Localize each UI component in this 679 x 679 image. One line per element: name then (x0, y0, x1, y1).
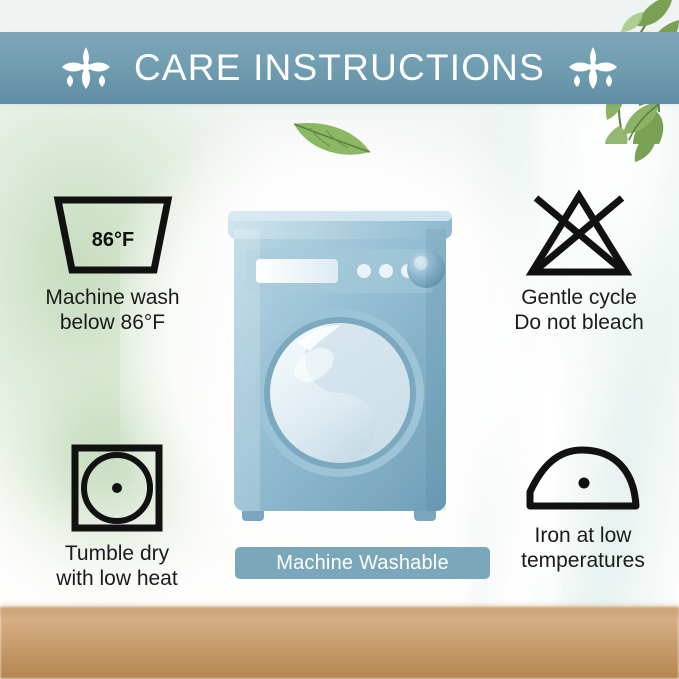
fleur-de-lis-icon (56, 43, 116, 93)
wooden-table-surface (0, 607, 679, 679)
tumble-dry-low-heat-icon (67, 440, 167, 536)
care-symbol-tumble-dry-caption: Tumble dry with low heat (22, 542, 212, 592)
washing-machine-illustration (228, 205, 452, 535)
iron-one-dot-icon (522, 440, 644, 518)
care-instructions-poster: CARE INSTRUCTIONS (0, 0, 679, 679)
care-symbol-gentle-no-bleach: Gentle cycle Do not bleach (484, 188, 674, 336)
fleur-de-lis-icon (563, 43, 623, 93)
care-symbol-tumble-dry: Tumble dry with low heat (22, 440, 212, 592)
status-badge: Machine Washable (235, 547, 490, 579)
triangle-crossed-no-bleach-icon (524, 188, 634, 280)
page-title: CARE INSTRUCTIONS (134, 47, 545, 89)
care-symbol-gentle-no-bleach-caption: Gentle cycle Do not bleach (484, 286, 674, 336)
status-badge-label: Machine Washable (276, 552, 449, 575)
care-symbol-machine-wash-caption: Machine wash below 86°F (10, 286, 215, 336)
wash-temperature-value: 86°F (91, 229, 133, 251)
care-symbol-iron-low: Iron at low temperatures (490, 440, 676, 574)
care-symbol-iron-low-caption: Iron at low temperatures (490, 524, 676, 574)
care-symbol-machine-wash: 86°F Machine wash below 86°F (10, 188, 215, 336)
banner: CARE INSTRUCTIONS (0, 32, 679, 104)
wash-tub-icon: 86°F (50, 188, 176, 280)
